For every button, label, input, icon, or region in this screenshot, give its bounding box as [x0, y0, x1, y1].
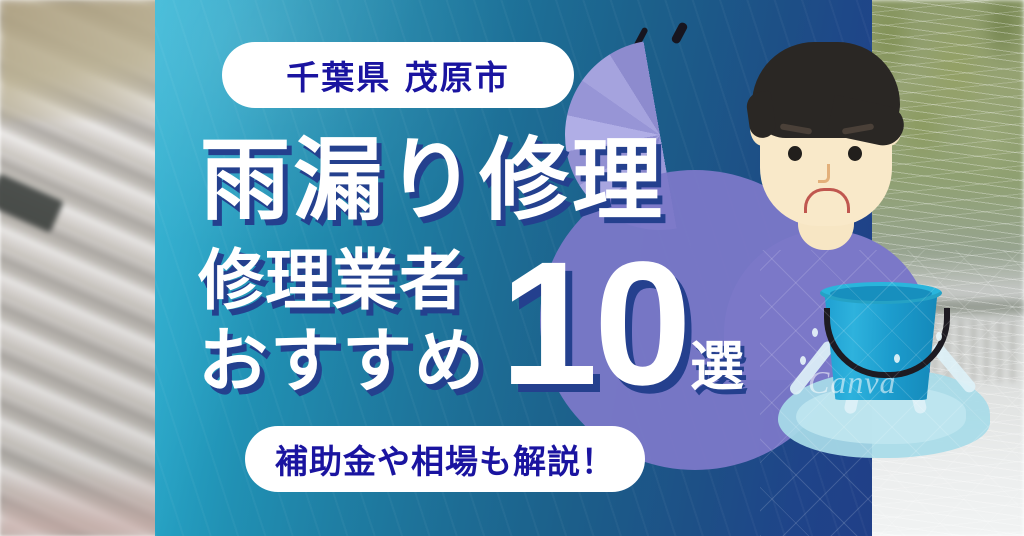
subtitle-recommended: おすすめ: [198, 326, 486, 396]
roof-lower-tint: [0, 466, 180, 536]
region-badge: 千葉県 茂原市: [222, 42, 574, 108]
footer-badge: 補助金や相場も解説！: [245, 426, 645, 492]
man-eye-right: [848, 146, 862, 161]
banner-image: Canva 千葉県 茂原市 雨漏り修理 修理業者 おすすめ 10 選 補助金や相…: [0, 0, 1024, 536]
left-roof-photo: [0, 0, 170, 536]
roof-dark-patch: [0, 173, 64, 233]
water-droplet-2: [800, 356, 806, 365]
man-nose: [818, 164, 830, 183]
water-droplet-4: [936, 332, 942, 341]
count-unit: 選: [690, 340, 744, 394]
leaking-bucket-illustration: Canva: [790, 282, 980, 462]
subtitle-contractors: 修理業者: [198, 248, 466, 314]
page-title: 雨漏り修理: [200, 136, 665, 226]
bucket-interior: [830, 286, 932, 301]
man-eye-left: [788, 146, 802, 161]
count-number: 10: [500, 236, 688, 412]
water-droplet-1: [812, 328, 818, 337]
roof-moss-patch: [0, 0, 180, 120]
water-droplet-3: [894, 354, 900, 363]
